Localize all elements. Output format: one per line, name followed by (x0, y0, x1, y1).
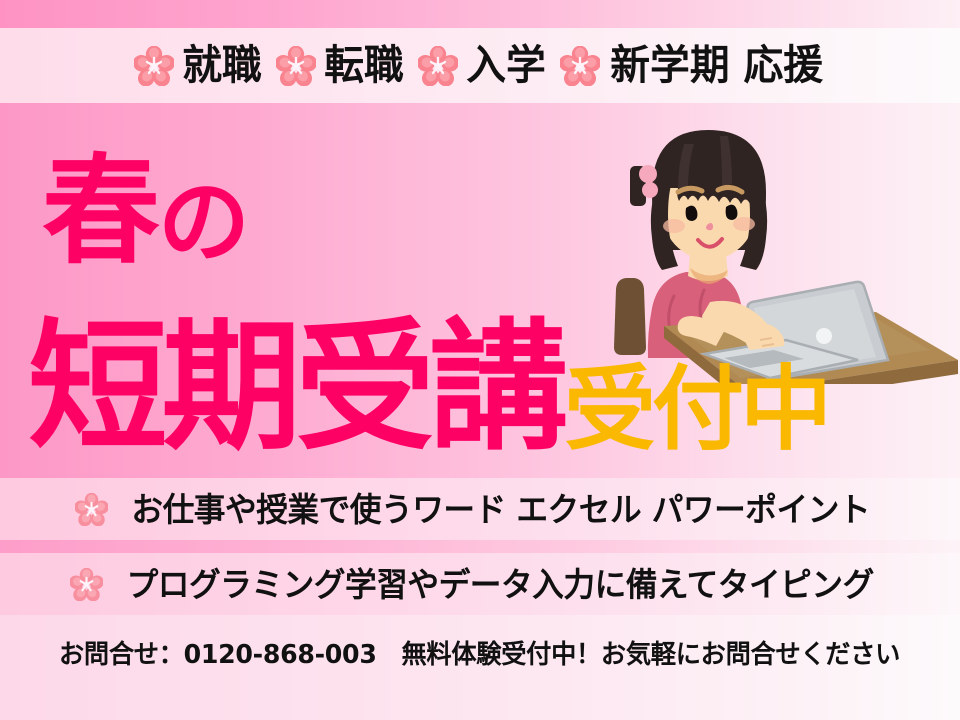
subheadline-divider (0, 540, 960, 553)
sakura-icon (70, 568, 103, 601)
banner-word-label: 新学期 応援 (610, 45, 823, 86)
sakura-icon (276, 46, 316, 86)
poster-root: 就職 (0, 0, 960, 720)
banner-word-label: 入学 (466, 45, 546, 86)
sakura-icon (134, 46, 174, 86)
cheek-right (733, 217, 755, 231)
banner-word-label: 就職 (182, 45, 262, 86)
hero-headline-accepting-badge: 受付中 (564, 364, 828, 456)
banner-item-shingakki-oen: 新学期 応援 (560, 45, 826, 86)
top-pink-strip (0, 0, 960, 28)
cheek-left (663, 219, 685, 233)
subheadline-text: お仕事や授業で使うワード エクセル パワーポイント (131, 493, 870, 526)
hero-headline-no: の (158, 169, 248, 276)
subheadline-text: プログラミング学習やデータ入力に備えてタイピング (127, 568, 874, 601)
banner-word-label: 転職 (324, 45, 404, 86)
banner-item-nyugaku: 入学 (418, 45, 547, 86)
sakura-icon (75, 493, 108, 526)
footer-contact-line: お問合せ：0120-868-003 無料体験受付中！お気軽にお問合せください (59, 642, 900, 668)
banner-row: 就職 (0, 28, 960, 103)
subheadline-row-1: お仕事や授業で使うワード エクセル パワーポイント (0, 478, 960, 540)
hero-headline-main: 短期受講 (28, 318, 563, 459)
hero-headline-spring: 春 (42, 142, 158, 280)
hero-headline-line2: 短期受講 受付中 (28, 318, 828, 459)
hero-headline-line1: 春の (42, 152, 248, 270)
banner-item-shushoku: 就職 (134, 45, 263, 86)
footer-row: お問合せ：0120-868-003 無料体験受付中！お気軽にお問合せください (0, 615, 960, 695)
sakura-icon (560, 46, 600, 86)
sakura-icon (418, 46, 458, 86)
subheadline-row-2: プログラミング学習やデータ入力に備えてタイピング (0, 553, 960, 615)
banner-item-tenshoku: 転職 (276, 45, 405, 86)
